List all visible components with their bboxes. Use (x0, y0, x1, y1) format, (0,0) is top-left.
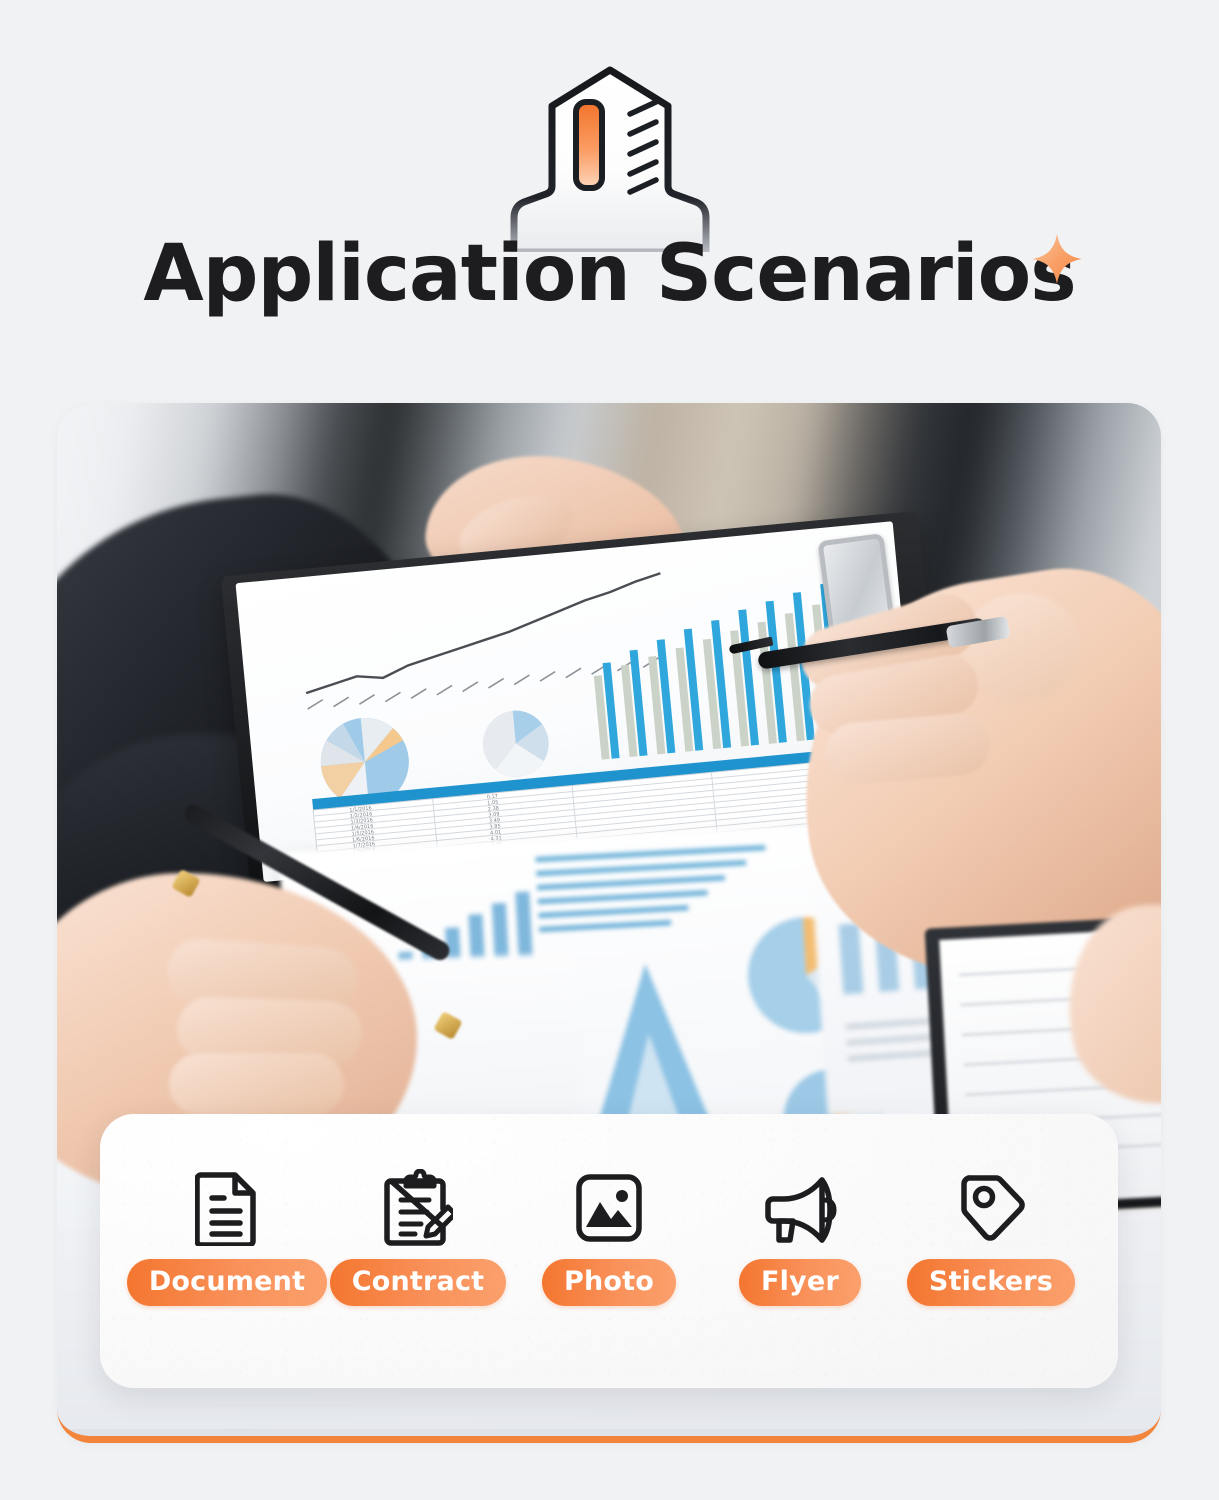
use-case-label[interactable]: Contract (330, 1259, 507, 1306)
megaphone-icon (762, 1168, 838, 1248)
use-case-label[interactable]: Flyer (739, 1259, 861, 1306)
use-case-item-document[interactable]: Document (134, 1168, 320, 1306)
use-case-item-contract[interactable]: Contract (325, 1168, 511, 1306)
tag-icon (956, 1168, 1026, 1248)
clipboard-pen-icon (383, 1168, 453, 1248)
use-case-list: Document Con (134, 1168, 1084, 1306)
use-case-label[interactable]: Document (127, 1259, 327, 1306)
use-case-item-photo[interactable]: Photo (516, 1168, 702, 1306)
use-case-card: Document Con (100, 1114, 1118, 1388)
application-scenarios-page: Application Scenarios (0, 0, 1219, 1500)
use-case-item-flyer[interactable]: Flyer (707, 1168, 893, 1306)
use-case-label[interactable]: Stickers (907, 1259, 1075, 1306)
use-case-item-stickers[interactable]: Stickers (898, 1168, 1084, 1306)
document-icon (195, 1168, 259, 1248)
page-header: Application Scenarios (0, 0, 1219, 390)
use-case-label[interactable]: Photo (542, 1259, 676, 1306)
page-title: Application Scenarios (143, 235, 1075, 313)
image-icon (574, 1168, 644, 1248)
building-tower-icon (500, 62, 720, 252)
photo-reviewer-knuckle (962, 593, 1082, 703)
sparkle-icon (1030, 232, 1084, 286)
photo-note-taker-knuckle (169, 1053, 344, 1115)
